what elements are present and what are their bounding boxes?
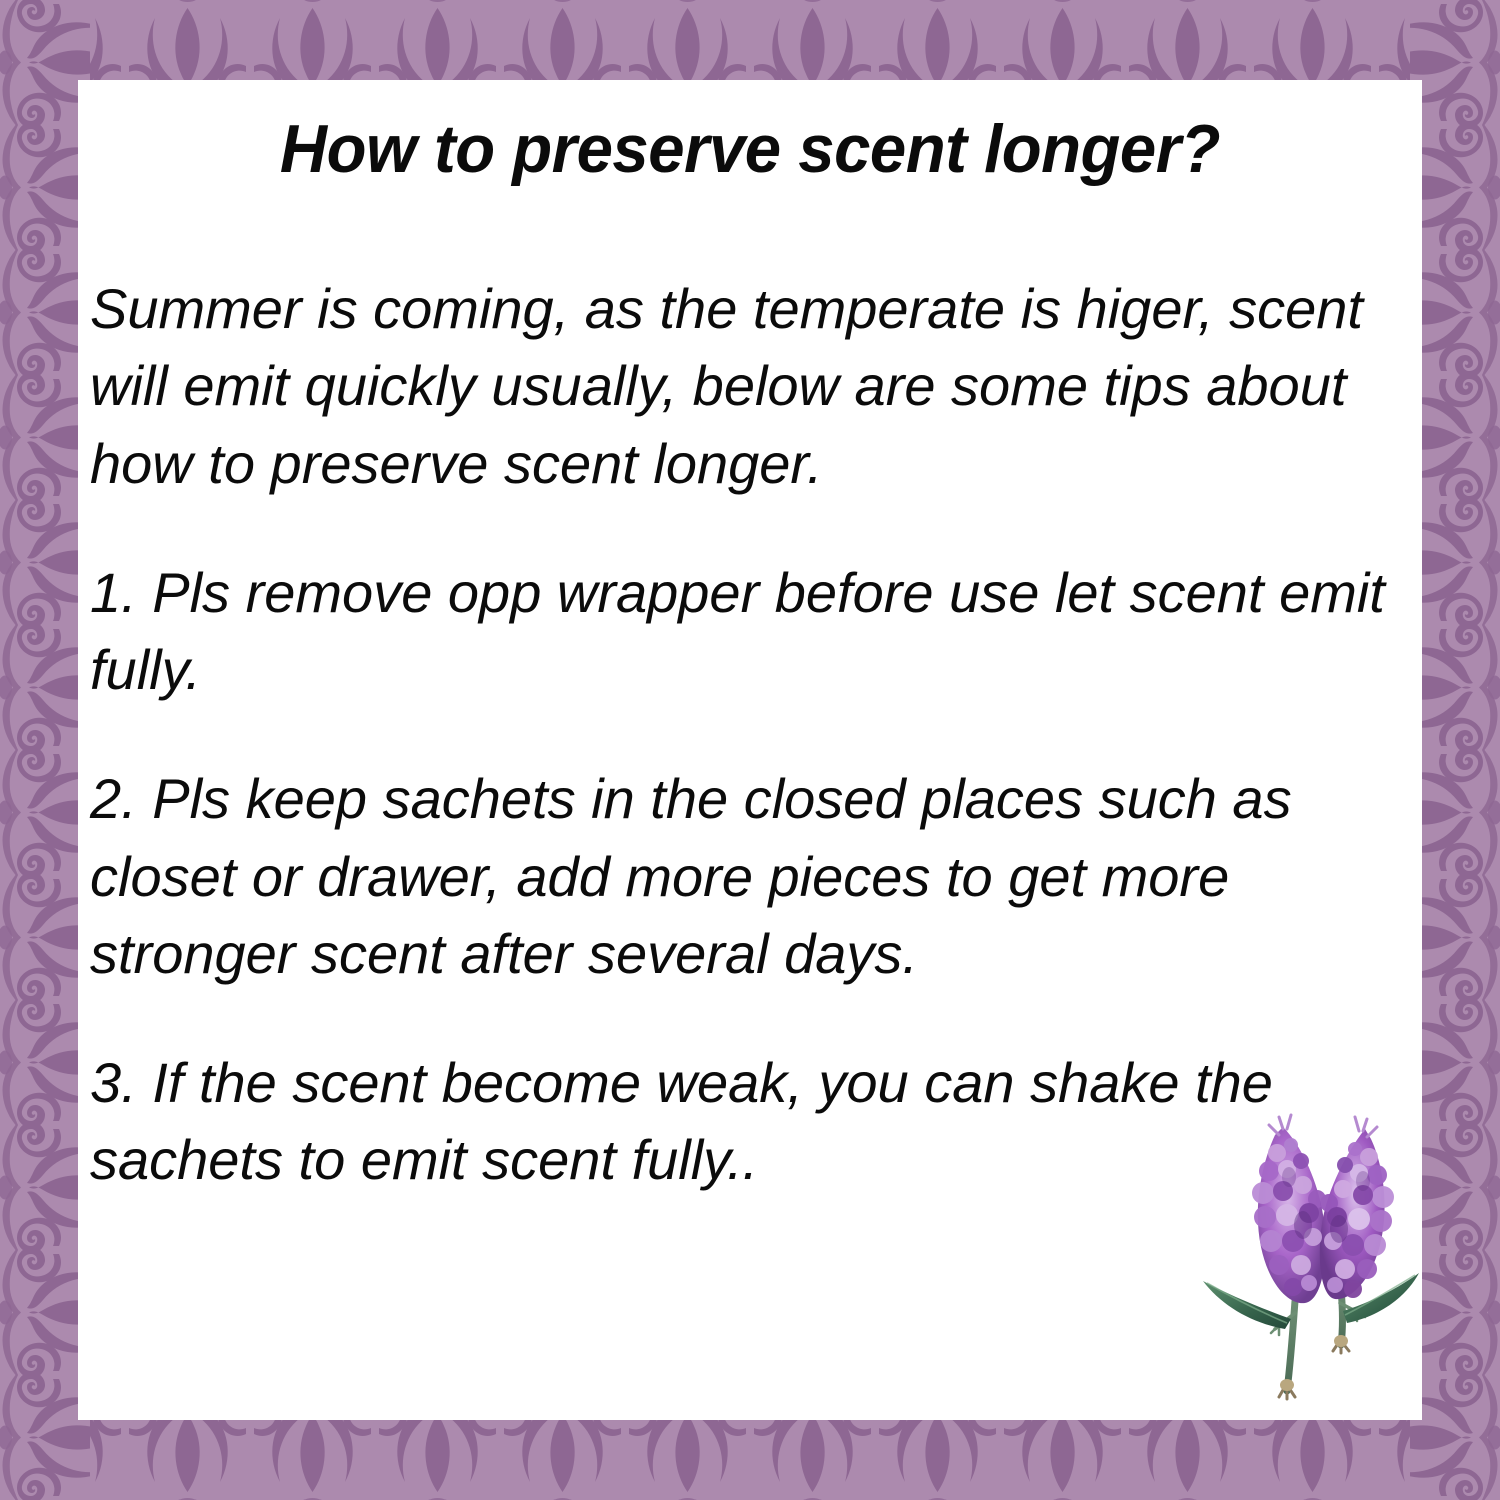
paragraph-tip-2: 2. Pls keep sachets in the closed places… — [90, 760, 1422, 992]
paragraph-intro: Summer is coming, as the temperate is hi… — [90, 270, 1422, 502]
content-card: How to preserve scent longer? Summer is … — [78, 80, 1422, 1420]
poster-root: How to preserve scent longer? Summer is … — [0, 0, 1500, 1500]
instructions-body: Summer is coming, as the temperate is hi… — [90, 270, 1422, 1199]
paragraph-tip-1: 1. Pls remove opp wrapper before use let… — [90, 554, 1422, 709]
paragraph-tip-3: 3. If the scent become weak, you can sha… — [90, 1044, 1422, 1199]
page-title: How to preserve scent longer? — [105, 114, 1395, 185]
